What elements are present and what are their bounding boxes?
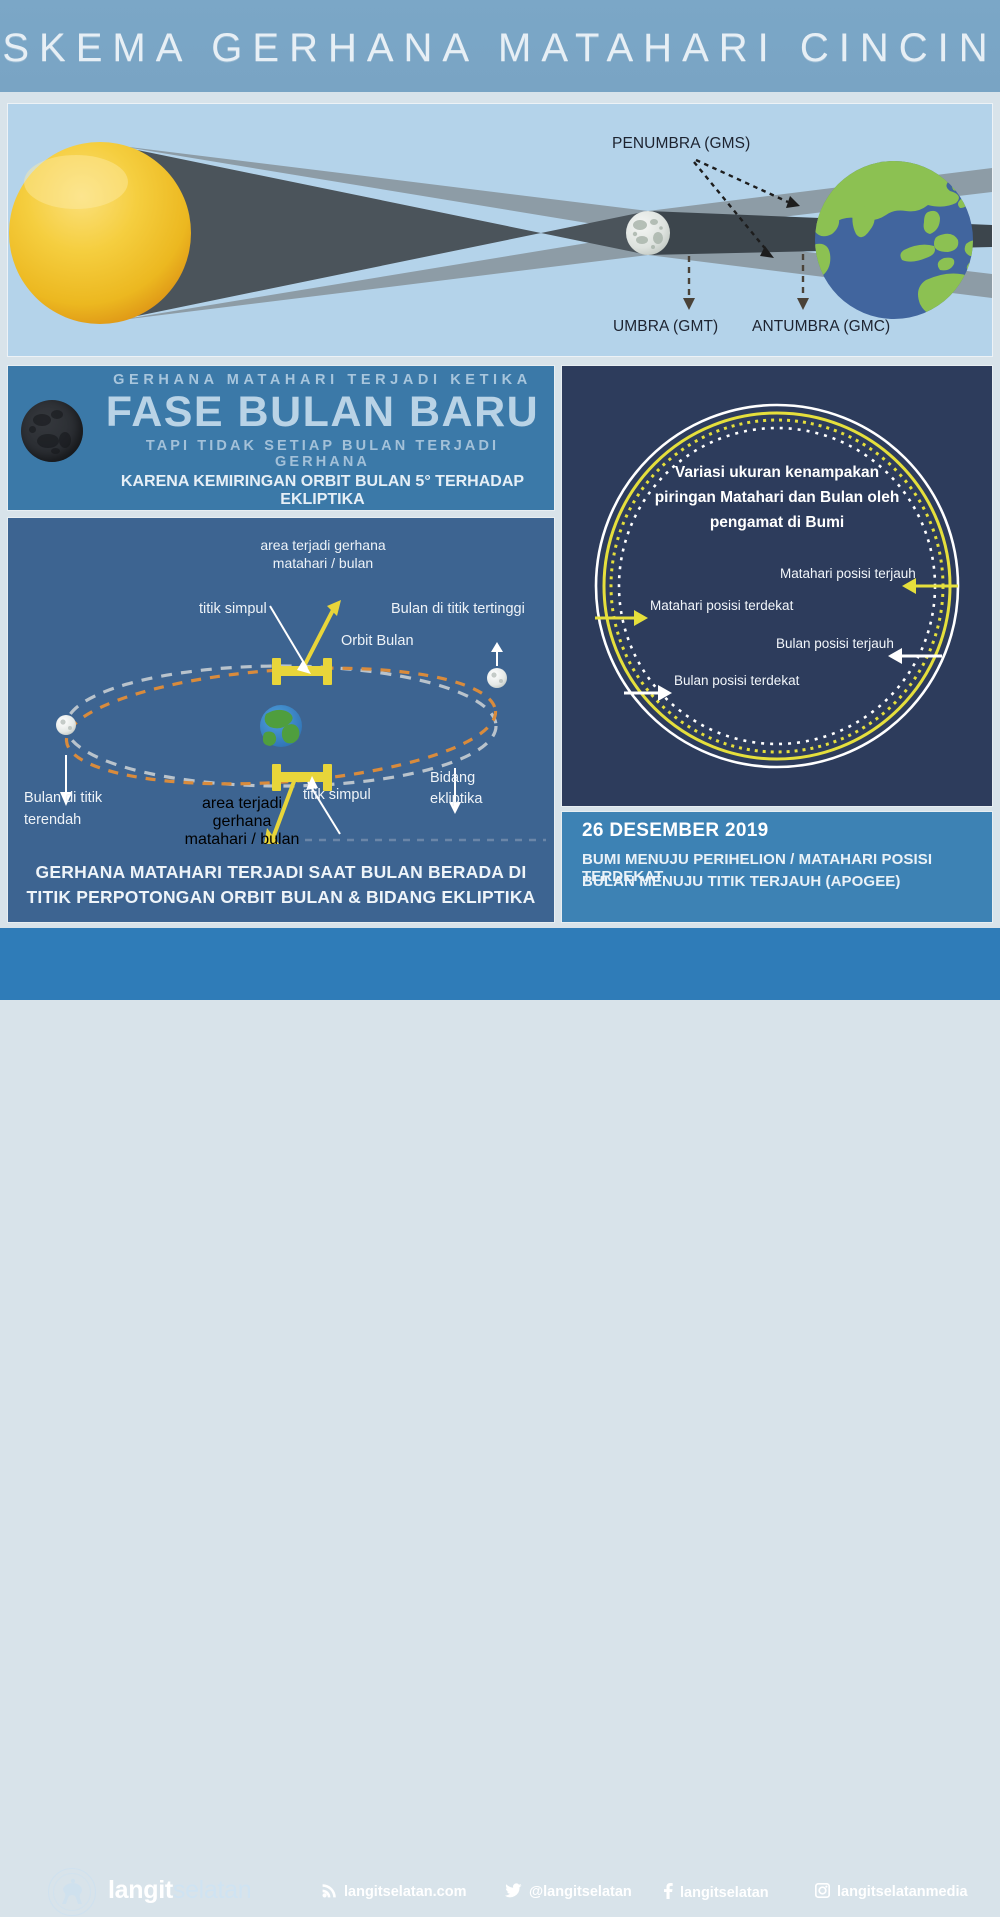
antumbra-arrowhead	[797, 298, 809, 310]
label-penumbra: PENUMBRA (GMS)	[612, 135, 750, 153]
new-moon-line-1: GERHANA MATAHARI TERJADI KETIKA	[95, 372, 550, 388]
facebook-icon	[663, 1883, 673, 1903]
instagram-icon	[815, 1883, 830, 1902]
footer-link-website-label: langitselatan.com	[344, 1884, 466, 1900]
date-note-2: BULAN MENUJU TITIK TERJAUH (APOGEE)	[582, 873, 901, 890]
apparent-size-title: Variasi ukuran kenampakan piringan Matah…	[622, 460, 932, 535]
label-eclipse-area-top: area terjadi gerhana matahari / bulan	[258, 536, 388, 572]
label-sun-farthest: Matahari posisi terjauh	[780, 566, 916, 581]
label-moon-highest: Bulan di titik tertinggi	[391, 601, 525, 617]
label-moon-nearest: Bulan posisi terdekat	[674, 673, 799, 688]
moon-lowest	[56, 715, 76, 735]
label-node-bottom: titik simpul	[303, 787, 371, 803]
label-umbra: UMBRA (GMT)	[613, 318, 718, 336]
apparent-size-svg	[562, 366, 992, 806]
footer-link-twitter[interactable]: @langitselatan	[505, 1883, 632, 1902]
footer-bar: langitselatan langitselatan.com @langits…	[0, 928, 1000, 1000]
brand-light: selatan	[173, 1876, 252, 1904]
label-antumbra: ANTUMBRA (GMC)	[752, 318, 890, 336]
langitselatan-seal-logo	[48, 1868, 96, 1916]
label-ecliptic-plane: Bidang ekliptika	[430, 768, 482, 810]
new-moon-headline: FASE BULAN BARU	[95, 390, 550, 434]
eclipse-date: 26 DESEMBER 2019	[582, 820, 768, 842]
label-node-top: titik simpul	[199, 601, 267, 617]
new-moon-icon	[21, 400, 83, 462]
footer-link-instagram[interactable]: langitselatanmedia	[815, 1883, 968, 1902]
earth-center	[260, 705, 302, 747]
label-moon-farthest: Bulan posisi terjauh	[776, 636, 894, 651]
brand-bold: langit	[108, 1876, 173, 1904]
moon	[626, 211, 670, 255]
apparent-size-panel	[562, 366, 992, 806]
infographic-page: SKEMA GERHANA MATAHARI CINCIN	[0, 0, 1000, 1000]
footer-link-facebook-label: langitselatan	[680, 1885, 769, 1901]
new-moon-text-block: GERHANA MATAHARI TERJADI KETIKA FASE BUL…	[95, 372, 550, 509]
new-moon-line-4: KARENA KEMIRINGAN ORBIT BULAN 5° TERHADA…	[95, 473, 550, 509]
sun	[9, 142, 191, 324]
brand-wordmark: langitselatan	[108, 1876, 251, 1905]
footer-link-twitter-label: @langitselatan	[529, 1884, 632, 1900]
footer-link-instagram-label: langitselatanmedia	[837, 1884, 968, 1900]
moon-highest	[487, 668, 507, 688]
footer-link-facebook[interactable]: langitselatan	[663, 1883, 769, 1903]
umbra-arrowhead	[683, 298, 695, 310]
label-moon-lowest: Bulan di titik terendah	[24, 787, 102, 831]
new-moon-line-3: TAPI TIDAK SETIAP BULAN TERJADI GERHANA	[95, 438, 550, 470]
orbit-panel-caption: GERHANA MATAHARI TERJADI SAAT BULAN BERA…	[8, 860, 554, 910]
page-title: SKEMA GERHANA MATAHARI CINCIN	[0, 26, 1000, 71]
label-eclipse-area-bottom: area terjadi gerhana matahari / bulan	[180, 795, 304, 849]
rss-icon	[322, 1883, 337, 1902]
header-bar: SKEMA GERHANA MATAHARI CINCIN	[0, 0, 1000, 92]
label-moon-orbit: Orbit Bulan	[341, 633, 414, 649]
label-sun-nearest: Matahari posisi terdekat	[650, 598, 793, 613]
twitter-icon	[505, 1883, 522, 1902]
footer-link-website[interactable]: langitselatan.com	[322, 1883, 466, 1902]
